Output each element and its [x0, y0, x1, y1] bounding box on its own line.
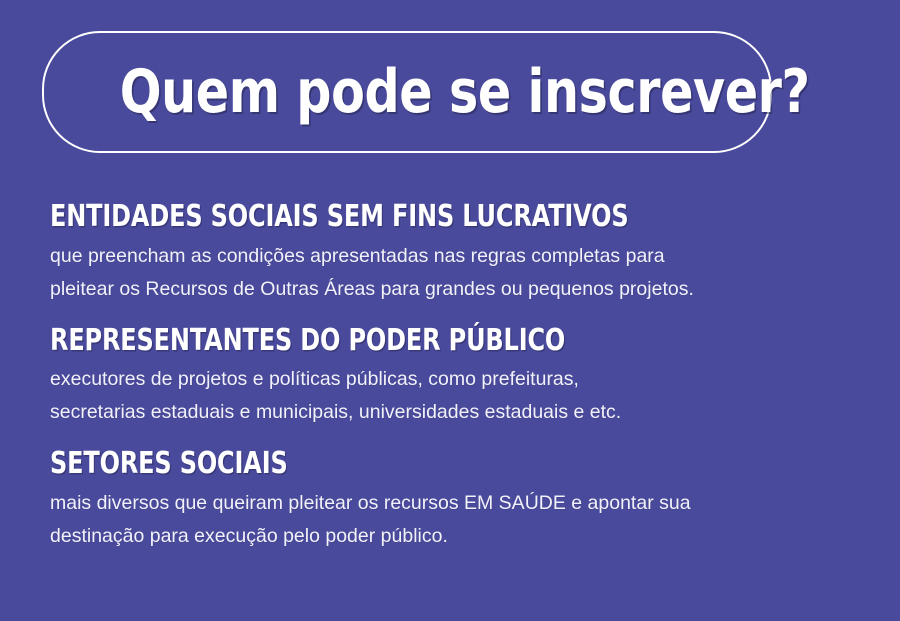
section-heading: SETORES SOCIAIS — [50, 447, 870, 481]
page-title: Quem pode se inscrever? — [44, 62, 770, 122]
poster-root: Quem pode se inscrever? ENTIDADES SOCIAI… — [0, 0, 900, 621]
section-entidades-sociais: ENTIDADES SOCIAIS SEM FINS LUCRATIVOS qu… — [50, 200, 870, 306]
title-frame: Quem pode se inscrever? — [42, 31, 772, 153]
section-body-line: que preencham as condições apresentadas … — [50, 240, 870, 273]
section-heading: ENTIDADES SOCIAIS SEM FINS LUCRATIVOS — [50, 200, 870, 234]
section-representantes-poder-publico: REPRESENTANTES DO PODER PÚBLICO executor… — [50, 324, 870, 430]
section-body: executores de projetos e políticas públi… — [50, 363, 870, 429]
section-heading: REPRESENTANTES DO PODER PÚBLICO — [50, 324, 870, 358]
section-body-line: mais diversos que queiram pleitear os re… — [50, 487, 870, 520]
section-heading-label: ENTIDADES SOCIAIS SEM FINS LUCRATIVOS — [50, 200, 629, 234]
section-heading-label: SETORES SOCIAIS — [50, 447, 288, 481]
section-body: mais diversos que queiram pleitear os re… — [50, 487, 870, 553]
section-body: que preencham as condições apresentadas … — [50, 240, 870, 306]
section-body-line: destinação para execução pelo poder públ… — [50, 520, 870, 553]
section-body-line: pleitear os Recursos de Outras Áreas par… — [50, 273, 870, 306]
page-title-label: Quem pode se inscrever? — [120, 62, 810, 122]
section-body-line: executores de projetos e políticas públi… — [50, 363, 870, 396]
section-setores-sociais: SETORES SOCIAIS mais diversos que queira… — [50, 447, 870, 553]
section-heading-label: REPRESENTANTES DO PODER PÚBLICO — [50, 324, 565, 358]
sections-list: ENTIDADES SOCIAIS SEM FINS LUCRATIVOS qu… — [50, 200, 870, 553]
section-body-line: secretarias estaduais e municipais, univ… — [50, 396, 870, 429]
